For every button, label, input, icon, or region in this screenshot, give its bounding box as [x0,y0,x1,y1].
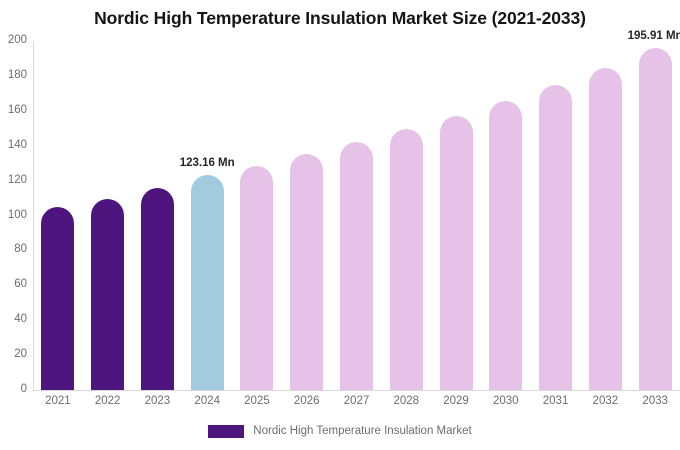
x-axis-tick-label: 2021 [33,396,83,408]
legend-swatch-icon [208,425,244,438]
bar-2033[interactable] [639,41,672,390]
bar-fill [91,199,124,390]
y-axis-tick-label: 200 [0,35,27,47]
x-axis-tick-label: 2026 [282,396,332,408]
bar-2032[interactable] [589,41,622,390]
plot-area [33,41,680,390]
bar-fill [141,188,174,390]
bar-fill [440,116,473,390]
bar-2024[interactable] [191,41,224,390]
y-axis-tick-label: 80 [0,244,27,256]
y-axis-tick-label: 160 [0,105,27,117]
bar-fill [191,175,224,390]
bar-2021[interactable] [41,41,74,390]
bar-2029[interactable] [440,41,473,390]
bar-fill [539,85,572,390]
y-axis-tick-label: 100 [0,210,27,222]
bar-fill [240,166,273,390]
bar-value-label-2024: 123.16 Mn [180,158,235,170]
y-axis-tick-label: 120 [0,175,27,187]
bar-fill [589,68,622,390]
chart-container: Nordic High Temperature Insulation Marke… [0,0,680,450]
bar-value-label-2033: 195.91 Mn [628,31,680,43]
y-axis-tick-label: 0 [0,384,27,396]
bar-fill [489,101,522,390]
x-axis-tick-label: 2033 [630,396,680,408]
y-axis-tick-label: 20 [0,349,27,361]
bar-fill [290,154,323,390]
bar-2030[interactable] [489,41,522,390]
x-axis-tick-label: 2027 [332,396,382,408]
x-axis-tick-label: 2031 [531,396,581,408]
x-axis-tick-label: 2024 [182,396,232,408]
x-axis-line [33,390,680,391]
y-axis-tick-label: 40 [0,314,27,326]
bar-2031[interactable] [539,41,572,390]
x-axis-tick-label: 2022 [83,396,133,408]
y-axis-tick-label: 140 [0,140,27,152]
legend-label: Nordic High Temperature Insulation Marke… [253,426,471,438]
bar-fill [639,48,672,390]
y-axis-tick-label: 60 [0,279,27,291]
bar-2026[interactable] [290,41,323,390]
bar-2025[interactable] [240,41,273,390]
x-axis-tick-label: 2029 [431,396,481,408]
x-axis-tick-label: 2023 [132,396,182,408]
bar-2028[interactable] [390,41,423,390]
x-axis-tick-label: 2028 [381,396,431,408]
bar-2027[interactable] [340,41,373,390]
bar-fill [41,207,74,390]
chart-legend: Nordic High Temperature Insulation Marke… [0,425,680,438]
x-axis-tick-label: 2025 [232,396,282,408]
bar-2023[interactable] [141,41,174,390]
bar-2022[interactable] [91,41,124,390]
x-axis-tick-label: 2032 [580,396,630,408]
bar-fill [390,129,423,390]
bar-fill [340,142,373,390]
y-axis-tick-label: 180 [0,70,27,82]
x-axis-tick-label: 2030 [481,396,531,408]
